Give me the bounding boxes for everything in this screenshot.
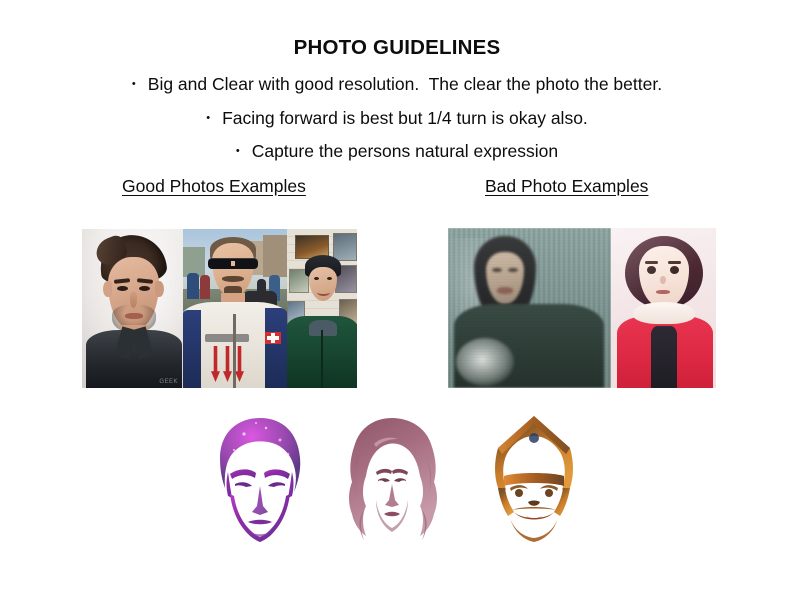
list-item-label: Facing forward is best but 1/4 turn is o… [222, 110, 588, 128]
smile-shape [317, 289, 330, 296]
beanie-badge [529, 433, 539, 443]
photo-watermark: GEEK [159, 379, 178, 385]
right-side-path [554, 488, 570, 516]
right-eye-path [268, 482, 285, 487]
mauve-female-face-icon [340, 414, 444, 550]
right-eye-shape [327, 277, 332, 280]
photo-man-with-sunglasses-outdoors [183, 229, 287, 388]
left-ear-shape [103, 281, 112, 297]
bullet-icon: • [206, 113, 210, 124]
right-ear-shape [155, 281, 164, 297]
stencil-purple-galaxy-male-face [208, 414, 312, 550]
good-photos-heading: Good Photos Examples [122, 176, 306, 197]
photo-man-in-green-jacket-gallery [287, 229, 357, 388]
right-eye-shape [139, 286, 150, 291]
photo-blurry-webcam-portrait [448, 228, 611, 388]
nose-path [252, 486, 268, 515]
left-eye-shape [117, 286, 128, 291]
jersey-zipper [233, 314, 236, 388]
nose-path [385, 484, 399, 507]
shirt-collar-shape [309, 320, 337, 336]
purple-galaxy-face-icon [208, 414, 312, 550]
framed-artwork [333, 233, 357, 261]
left-eye-path [378, 478, 390, 482]
bad-photos-heading: Bad Photo Examples [485, 176, 648, 197]
stencil-mauve-curly-hair-female-face [340, 414, 444, 550]
photo-faded-pink-child-photo [611, 228, 716, 388]
sunglasses-icon [208, 258, 258, 269]
bullet-icon: • [236, 146, 240, 157]
stencil-orange-beanie-smiling-face [482, 414, 586, 550]
building-right-shape [263, 235, 287, 277]
right-eyebrow-path [392, 469, 408, 475]
jersey-left-panel [183, 310, 201, 388]
list-item: • Facing forward is best but 1/4 turn is… [0, 110, 794, 128]
right-eye-path [394, 478, 406, 482]
stencil-faces-row [0, 414, 794, 554]
left-eyebrow-path [230, 469, 256, 479]
swiss-flag-patch [265, 332, 281, 344]
good-photos-collage: GEEK [82, 229, 357, 388]
left-eye-path [235, 482, 252, 487]
left-eye-shape [314, 277, 319, 280]
mouth-path [248, 520, 272, 525]
page-title: PHOTO GUIDELINES [0, 36, 794, 60]
list-item-label: Big and Clear with good resolution. The … [148, 76, 662, 94]
right-eyebrow-path [264, 469, 290, 479]
left-pupil [515, 489, 523, 497]
right-pupil [545, 489, 553, 497]
fade-overlay [611, 228, 716, 388]
list-item: • Big and Clear with good resolution. Th… [0, 76, 794, 94]
left-eyebrow-path [376, 469, 392, 475]
hair-path [349, 418, 437, 536]
left-side-path [498, 488, 514, 516]
beanie-brim-path [504, 473, 564, 486]
list-item: • Capture the persons natural expression [0, 143, 794, 161]
jawline-path [510, 518, 558, 542]
bad-photos-collage [448, 228, 716, 388]
list-item-label: Capture the persons natural expression [252, 143, 558, 161]
guidelines-list: • Big and Clear with good resolution. Th… [0, 76, 794, 177]
slide-canvas: PHOTO GUIDELINES • Big and Clear with go… [0, 0, 794, 613]
scanline-overlay [448, 228, 611, 388]
photo-studio-male-portrait: GEEK [82, 229, 183, 388]
bullet-icon: • [132, 79, 136, 90]
crowd-figure [200, 275, 210, 299]
jacket-zipper [321, 330, 323, 388]
jersey-text-band [205, 334, 249, 342]
crowd-figure [187, 273, 199, 299]
moustache-shape [222, 276, 244, 282]
jersey-right-panel [265, 308, 287, 388]
upper-lip-path [512, 507, 556, 510]
mouth-shape [125, 313, 143, 319]
orange-beanie-face-icon [482, 414, 586, 550]
mouth-path [384, 512, 400, 517]
nose-path [528, 501, 540, 506]
